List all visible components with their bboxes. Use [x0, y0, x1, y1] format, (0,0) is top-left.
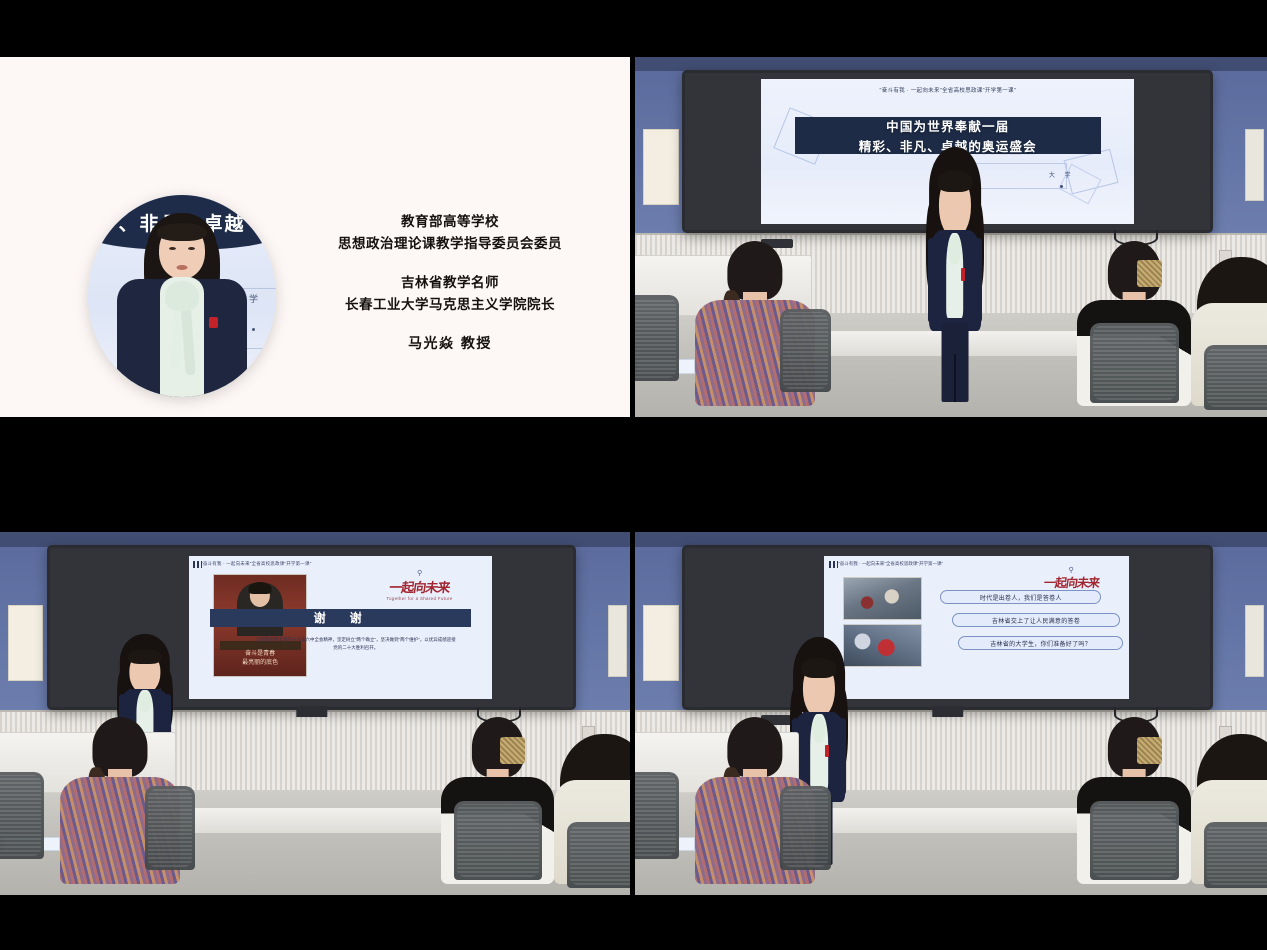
- student-hair-clip: [1137, 260, 1162, 286]
- slide-photo-bottom: [843, 624, 922, 667]
- chair-mid-left: [145, 786, 195, 869]
- slide-header-opening: "奋斗有我 · 一起向未来"全省高校思政课"开学第一课": [761, 86, 1134, 94]
- panel-classroom-closing[interactable]: "奋斗有我 · 一起向未来"全省高校思政课"开学第一课" ⚲ 一起向未来 Tog…: [635, 532, 1267, 895]
- display-stand: [296, 706, 327, 717]
- portrait-eye-left: [169, 247, 176, 250]
- projected-slide-closing: "奋斗有我 · 一起向未来"全省高校思政课"开学第一课" ⚲ 一起向未来 Tog…: [824, 556, 1128, 699]
- credential-spacer-1: [300, 256, 600, 273]
- classroom-display-screen[interactable]: "奋斗有我 · 一起向未来"全省高校思政课"开学第一课" ⚲ 一起向未来 Tog…: [682, 545, 1213, 710]
- speaker-arm-left: [928, 238, 935, 324]
- chair-mesh: [635, 298, 676, 378]
- portrait-party-badge: [209, 317, 218, 328]
- logo-english-text: Together for a Shared Future: [374, 596, 465, 601]
- credential-spacer-2: [300, 316, 600, 333]
- student-hair-clip: [1137, 737, 1162, 764]
- portrait-bow: [165, 281, 199, 311]
- classroom-scene-opening: "奋斗有我 · 一起向未来"全省高校思政课"开学第一课" 中国为世界奉献一届 精…: [635, 57, 1267, 417]
- chair-front-right: [1090, 323, 1178, 402]
- photo-figure-hair: [249, 582, 272, 594]
- chair-front-right: [454, 801, 542, 881]
- slide-logo-mark: [829, 561, 838, 568]
- speaker-bangs: [937, 170, 972, 193]
- chair-mesh: [1093, 326, 1175, 399]
- student-hair-clip: [500, 737, 525, 764]
- speaker-bangs: [128, 649, 162, 664]
- chair-mesh: [148, 789, 192, 866]
- letterbox-bottom: [0, 895, 1267, 950]
- slide-header-closing: "奋斗有我 · 一起向未来"全省高校思政课"开学第一课": [838, 561, 943, 567]
- credential-line-3: 吉林省教学名师: [300, 273, 600, 295]
- portrait-bangs: [157, 223, 207, 241]
- speaker-party-badge: [961, 268, 965, 281]
- chair-mesh: [0, 775, 41, 856]
- logo-emblem-icon: ⚲: [374, 569, 465, 577]
- chair-mesh: [1093, 804, 1175, 878]
- logo-emblem-icon: ⚲: [1032, 566, 1111, 574]
- chair-mesh: [1207, 348, 1267, 407]
- panel-classroom-thanks[interactable]: "奋斗有我 · 一起向未来"全省高校思政课"开学第一课" 奋斗是青春 最亮丽的底…: [0, 532, 630, 895]
- video-grid-stage: 、非凡 卓越 大 学: [0, 0, 1267, 950]
- chair-mesh: [783, 789, 828, 866]
- speaker-bow: [138, 692, 151, 712]
- slide-photo-top: [843, 577, 922, 620]
- slide-header-thanks: "奋斗有我 · 一起向未来"全省高校思政课"开学第一课": [201, 561, 312, 567]
- portrait-mouth: [177, 265, 188, 270]
- speaker-party-badge: [825, 745, 829, 756]
- projected-slide-thanks: "奋斗有我 · 一起向未来"全省高校思政课"开学第一课" 奋斗是青春 最亮丽的底…: [189, 556, 492, 699]
- portrait-eye-right: [188, 247, 195, 250]
- speaker-arm-right: [974, 238, 981, 324]
- wall-poster-left: [8, 605, 43, 681]
- letterbox-middle: [0, 417, 1267, 532]
- chair-mesh: [1207, 825, 1267, 884]
- letterbox-top: [0, 0, 1267, 57]
- speaker-credentials-block: 教育部高等学校 思想政治理论课教学指导委员会委员 吉林省教学名师 长春工业大学马…: [300, 212, 600, 353]
- slide-title-line-1: 中国为世界奉献一届: [886, 116, 1009, 135]
- classroom-scene-closing: "奋斗有我 · 一起向未来"全省高校思政课"开学第一课" ⚲ 一起向未来 Tog…: [635, 532, 1267, 895]
- speaker-leg-split: [954, 354, 956, 402]
- chair-mesh: [783, 312, 828, 389]
- wall-poster-right: [1245, 129, 1264, 201]
- credential-line-2: 思想政治理论课教学指导委员会委员: [300, 234, 600, 256]
- speaker-bangs: [801, 658, 836, 678]
- slide-logo-block: ⚲ 一起向未来 Together for a Shared Future: [374, 569, 465, 598]
- chair-mid-left: [780, 309, 831, 392]
- credential-line-4: 长春工业大学马克思主义学院院长: [300, 295, 600, 317]
- chair-mesh: [570, 825, 630, 884]
- thanks-char-2: 谢: [350, 609, 368, 626]
- chair-far-right: [567, 822, 630, 887]
- wall-poster-left: [643, 129, 678, 205]
- slide-bubble-3: 吉林省的大学生，你们准备好了吗？: [958, 636, 1122, 650]
- slide-bubble-1: 时代是出卷人，我们是答卷人: [940, 590, 1101, 604]
- credential-line-1: 教育部高等学校: [300, 212, 600, 234]
- display-stand: [932, 706, 963, 717]
- slide-frame-label: 大 学: [1049, 170, 1075, 179]
- wall-poster-right: [608, 605, 627, 678]
- classroom-scene-thanks: "奋斗有我 · 一起向未来"全省高校思政课"开学第一课" 奋斗是青春 最亮丽的底…: [0, 532, 630, 895]
- chair-mesh: [635, 775, 676, 856]
- speaker-name-title: 马光焱 教授: [300, 333, 600, 353]
- panel-speaker-introduction[interactable]: 、非凡 卓越 大 学: [0, 57, 630, 417]
- photo-caption-line-2: 最亮丽的底色: [228, 659, 292, 668]
- thanks-char-1: 谢: [314, 609, 332, 626]
- slide-bubble-2: 吉林省交上了让人民满意的答卷: [952, 613, 1119, 627]
- panel-classroom-opening[interactable]: "奋斗有我 · 一起向未来"全省高校思政课"开学第一课" 中国为世界奉献一届 精…: [635, 57, 1267, 417]
- chair-far-right: [1204, 822, 1267, 887]
- speaker-arm-right: [839, 718, 846, 795]
- wall-poster-right: [1245, 605, 1264, 678]
- chair-front-left: [0, 772, 44, 859]
- slide-body-text: 全面贯彻落实党的十九届六中全会精神，坚定树立"两个确立"，坚决做到"两个维护"，…: [256, 636, 456, 653]
- chair-mesh: [457, 804, 539, 878]
- logo-chinese-text: 一起向未来: [373, 577, 467, 596]
- chair-far-right: [1204, 345, 1267, 410]
- chair-front-left: [635, 295, 679, 381]
- chair-mid-left: [780, 786, 831, 869]
- chair-front-left: [635, 772, 679, 859]
- speaker-portrait-avatar: 、非凡 卓越 大 学: [88, 195, 276, 397]
- wall-poster-left: [643, 605, 678, 681]
- speaker-standing-opening: [929, 147, 981, 399]
- chair-front-right: [1090, 801, 1178, 881]
- logo-chinese-text: 一起向未来: [1030, 574, 1112, 591]
- intro-background: 、非凡 卓越 大 学: [0, 57, 630, 417]
- slide-thanks-band: 谢 谢: [210, 609, 471, 628]
